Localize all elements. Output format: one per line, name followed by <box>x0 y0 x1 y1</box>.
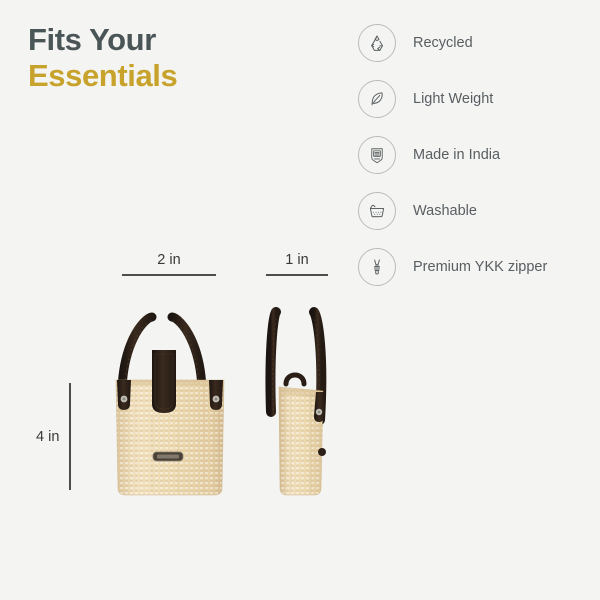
dimension-width-front-value: 2 in <box>122 252 216 268</box>
dimension-height-rule <box>69 383 71 490</box>
infographic-canvas: Fits Your Essentials Recycled <box>0 0 600 600</box>
page-title: Fits Your Essentials <box>28 22 177 94</box>
dimension-width-front-rule <box>122 274 216 276</box>
dimension-height: 4 in <box>36 383 71 490</box>
page-title-line-1: Fits Your <box>28 22 177 58</box>
feature-label: Light Weight <box>413 91 493 107</box>
feather-icon <box>358 80 396 118</box>
woven-tote-bag-side-view <box>246 292 354 497</box>
feature-label: Washable <box>413 203 477 219</box>
dimension-height-value: 4 in <box>36 429 59 445</box>
page-title-line-2: Essentials <box>28 58 177 94</box>
feature-item-made-in-india: Made in India <box>358 136 547 174</box>
dimension-width-side-rule <box>266 274 328 276</box>
feature-item-recycled: Recycled <box>358 24 547 62</box>
feature-label: Made in India <box>413 147 500 163</box>
feature-item-premium-ykk-zipper: Premium YKK zipper <box>358 248 547 286</box>
woven-tote-bag-front-view <box>100 292 240 497</box>
feature-item-washable: Washable <box>358 192 547 230</box>
feature-label: Recycled <box>413 35 473 51</box>
wash-tub-icon <box>358 192 396 230</box>
feature-list: Recycled Light Weight Mad <box>358 24 547 304</box>
feature-label: Premium YKK zipper <box>413 259 547 275</box>
dimension-width-front: 2 in <box>122 252 216 276</box>
made-in-india-icon <box>358 136 396 174</box>
recycle-icon <box>358 24 396 62</box>
zipper-icon <box>358 248 396 286</box>
feature-item-light-weight: Light Weight <box>358 80 547 118</box>
dimension-width-side: 1 in <box>266 252 328 276</box>
dimension-width-side-value: 1 in <box>266 252 328 268</box>
